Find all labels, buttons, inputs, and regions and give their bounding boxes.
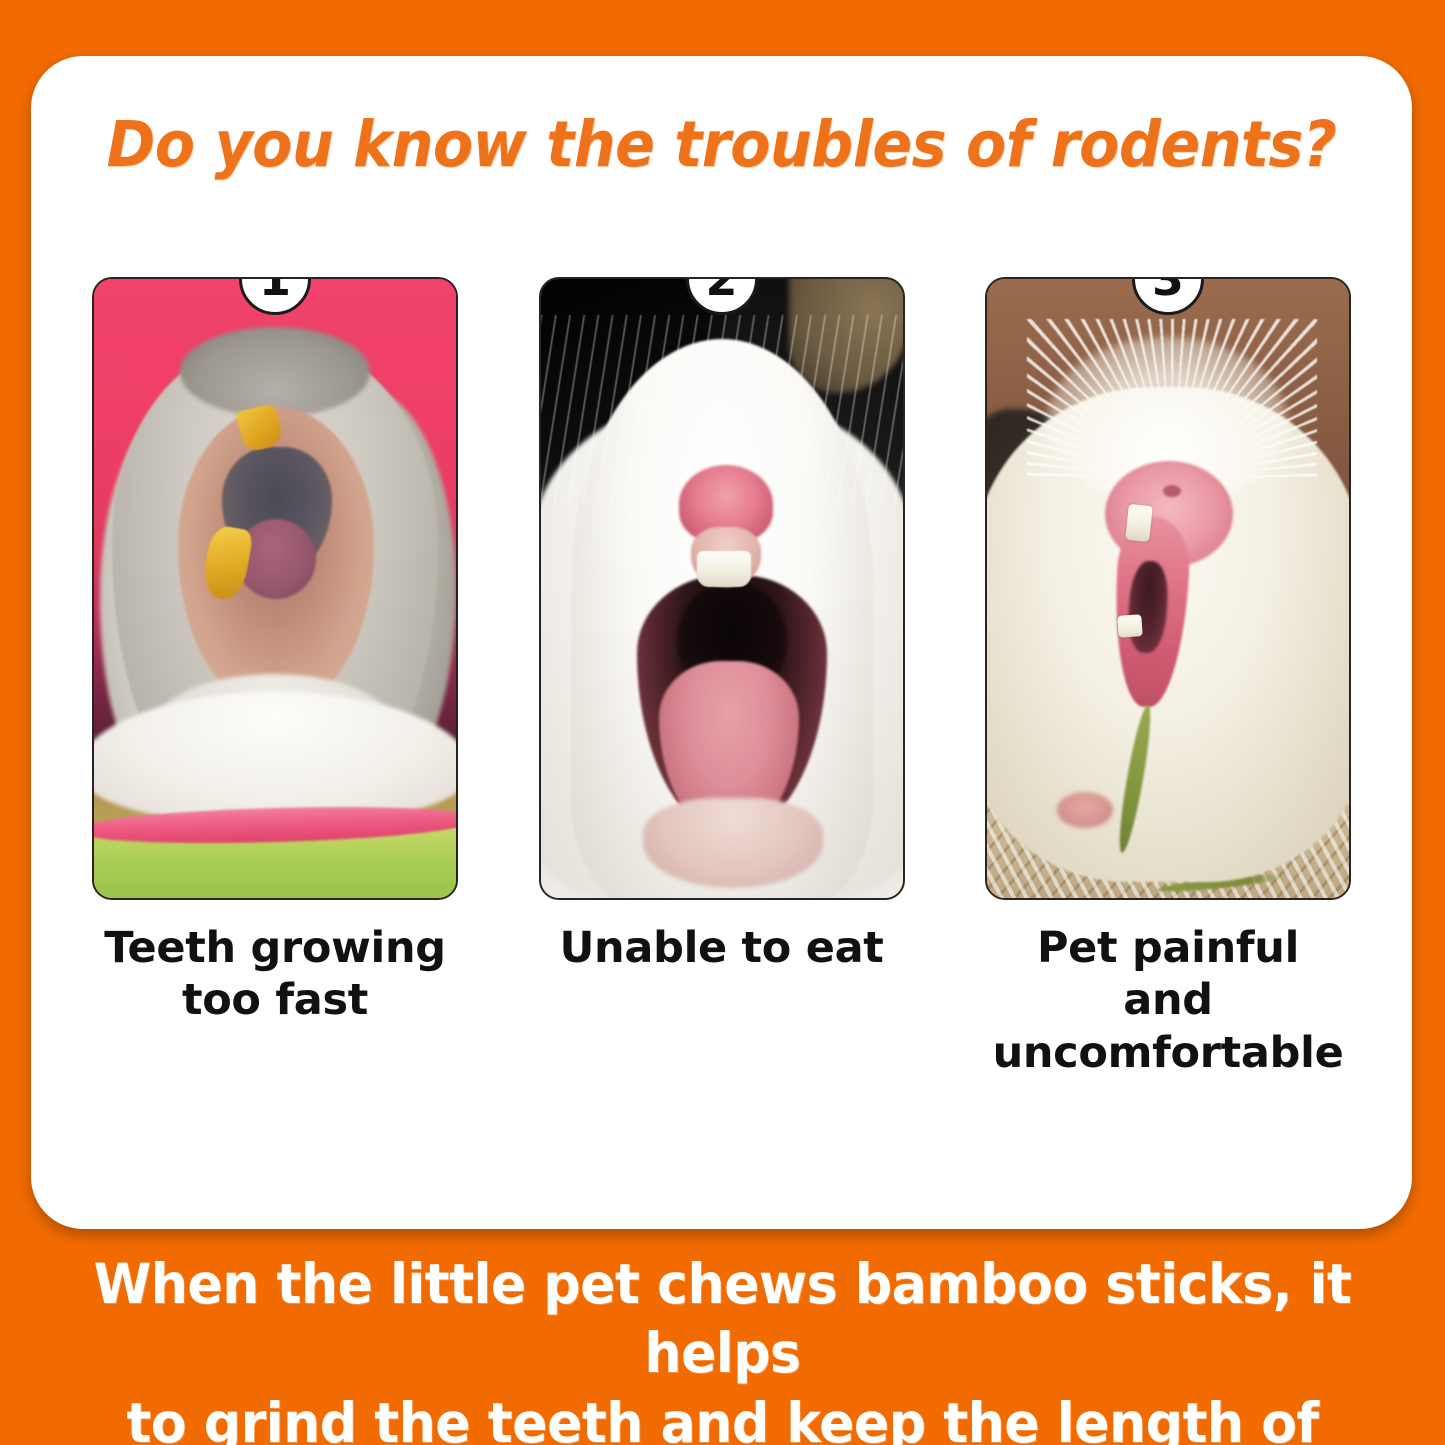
trouble-card-2: 2 Unable to eat <box>539 277 905 974</box>
front-paw <box>1057 792 1113 828</box>
front-incisors <box>697 551 751 587</box>
bottom-banner-text: When the little pet chews bamboo sticks,… <box>36 1250 1409 1445</box>
photo-teeth-growing-too-fast: 1 <box>92 277 458 900</box>
photo-1-scene <box>94 279 456 898</box>
trouble-card-1: 1 Teeth growing too fast <box>92 277 458 1027</box>
caption-card-2: Unable to eat <box>559 922 883 974</box>
long-upper-incisor <box>1125 504 1153 542</box>
photo-unable-to-eat: 2 <box>539 277 905 900</box>
nostril <box>1163 485 1181 497</box>
page-title: Do you know the troubles of rodents? <box>79 108 1363 181</box>
trouble-cards-row: 1 Teeth growing too fast <box>92 277 1351 1079</box>
white-bedding <box>94 692 456 824</box>
photo-2-scene <box>541 279 903 898</box>
long-lower-incisor <box>1117 614 1142 638</box>
trouble-card-3: 3 Pet painful and uncomfortable <box>985 277 1351 1079</box>
caption-card-1: Teeth growing too fast <box>104 922 446 1027</box>
photo-pet-painful-and-uncomfortable: 3 <box>985 277 1351 900</box>
lower-jaw <box>643 798 823 888</box>
rodent-head-top <box>180 327 370 417</box>
caption-card-3: Pet painful and uncomfortable <box>993 922 1344 1079</box>
photo-3-scene <box>987 279 1349 898</box>
content-panel: Do you know the troubles of rodents? <box>31 56 1412 1229</box>
